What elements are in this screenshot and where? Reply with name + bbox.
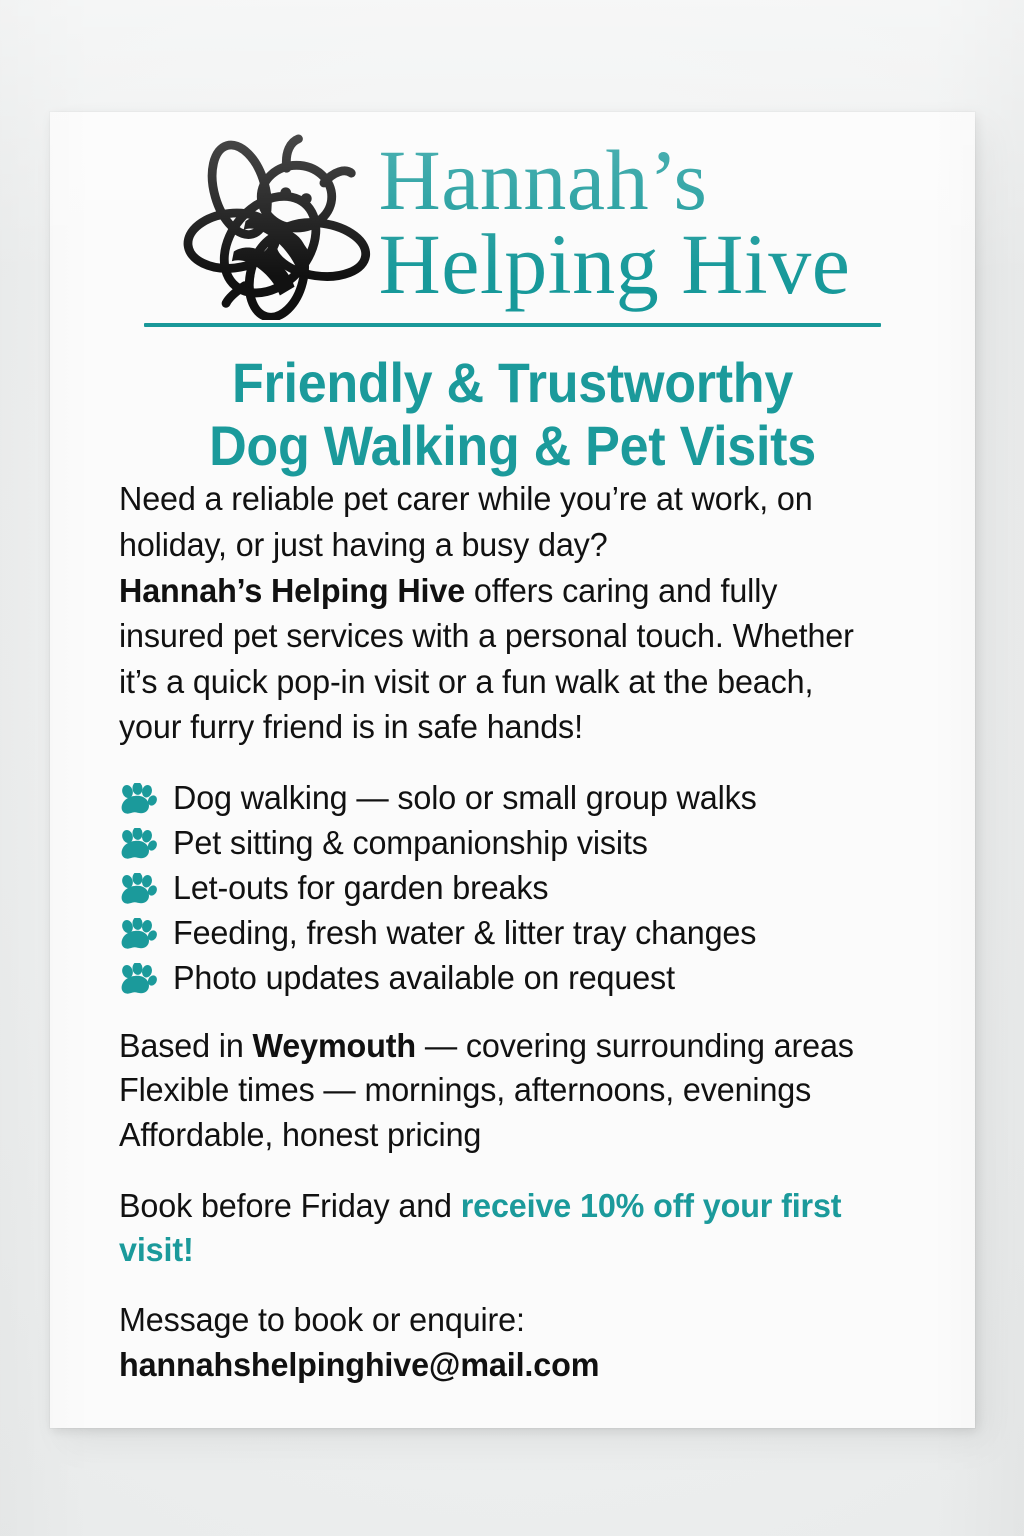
detail-pricing: Affordable, honest pricing: [119, 1114, 876, 1159]
service-label: Dog walking — solo or small group walks: [173, 780, 757, 818]
detail-times: Flexible times — mornings, afternoons, e…: [119, 1069, 876, 1114]
flyer-content: Hannah’s Helping Hive Friendly & Trustwo…: [50, 112, 975, 1428]
page-title: Friendly & Trustworthy Dog Walking & Pet…: [82, 352, 942, 477]
service-label: Photo updates available on request: [173, 960, 675, 998]
offer-line: Book before Friday and receive 10% off y…: [119, 1185, 876, 1272]
intro-paragraph: Need a reliable pet carer while you’re a…: [119, 477, 876, 568]
brand-name-line1: Hannah’s: [379, 138, 851, 222]
paw-print-icon: [119, 873, 157, 907]
detail-location-town: Weymouth: [252, 1028, 415, 1065]
contact-prompt: Message to book or enquire:: [119, 1299, 876, 1344]
contact-email[interactable]: hannahshelpinghive@mail.com: [119, 1344, 876, 1389]
detail-location: Based in Weymouth — covering surrounding…: [119, 1025, 876, 1070]
paw-print-icon: [119, 828, 157, 862]
about-paragraph: Hannah’s Helping Hive offers caring and …: [119, 569, 876, 751]
bee-icon: [175, 134, 371, 320]
header-divider: [144, 323, 881, 327]
service-label: Let-outs for garden breaks: [173, 870, 548, 908]
detail-location-prefix: Based in: [119, 1028, 252, 1065]
paw-print-icon: [119, 783, 157, 817]
about-bold-brand: Hannah’s Helping Hive: [119, 573, 465, 610]
details-block: Based in Weymouth — covering surrounding…: [119, 1025, 903, 1159]
services-list: Dog walking — solo or small group walks: [119, 777, 903, 1001]
offer-plain-text: Book before Friday and: [119, 1188, 461, 1225]
contact-block: Message to book or enquire: hannahshelpi…: [119, 1299, 903, 1388]
poster-page: Hannah’s Helping Hive Friendly & Trustwo…: [0, 0, 1024, 1536]
headline-line2: Dog Walking & Pet Visits: [82, 415, 942, 478]
body-content: Need a reliable pet carer while you’re a…: [50, 477, 975, 1388]
headline-line1: Friendly & Trustworthy: [82, 352, 942, 415]
paw-print-icon: [119, 963, 157, 997]
paw-print-icon: [119, 918, 157, 952]
logo-lockup: Hannah’s Helping Hive: [50, 112, 975, 310]
list-item: Let-outs for garden breaks: [119, 867, 903, 911]
brand-name-line2: Helping Hive: [379, 222, 851, 306]
brand-wordmark: Hannah’s Helping Hive: [379, 138, 851, 313]
detail-location-suffix: — covering surrounding areas: [416, 1028, 854, 1065]
list-item: Feeding, fresh water & litter tray chang…: [119, 912, 903, 956]
list-item: Pet sitting & companionship visits: [119, 822, 903, 866]
service-label: Pet sitting & companionship visits: [173, 825, 648, 863]
list-item: Dog walking — solo or small group walks: [119, 777, 903, 821]
flyer-card: Hannah’s Helping Hive Friendly & Trustwo…: [50, 112, 975, 1428]
service-label: Feeding, fresh water & litter tray chang…: [173, 915, 756, 953]
list-item: Photo updates available on request: [119, 957, 903, 1001]
